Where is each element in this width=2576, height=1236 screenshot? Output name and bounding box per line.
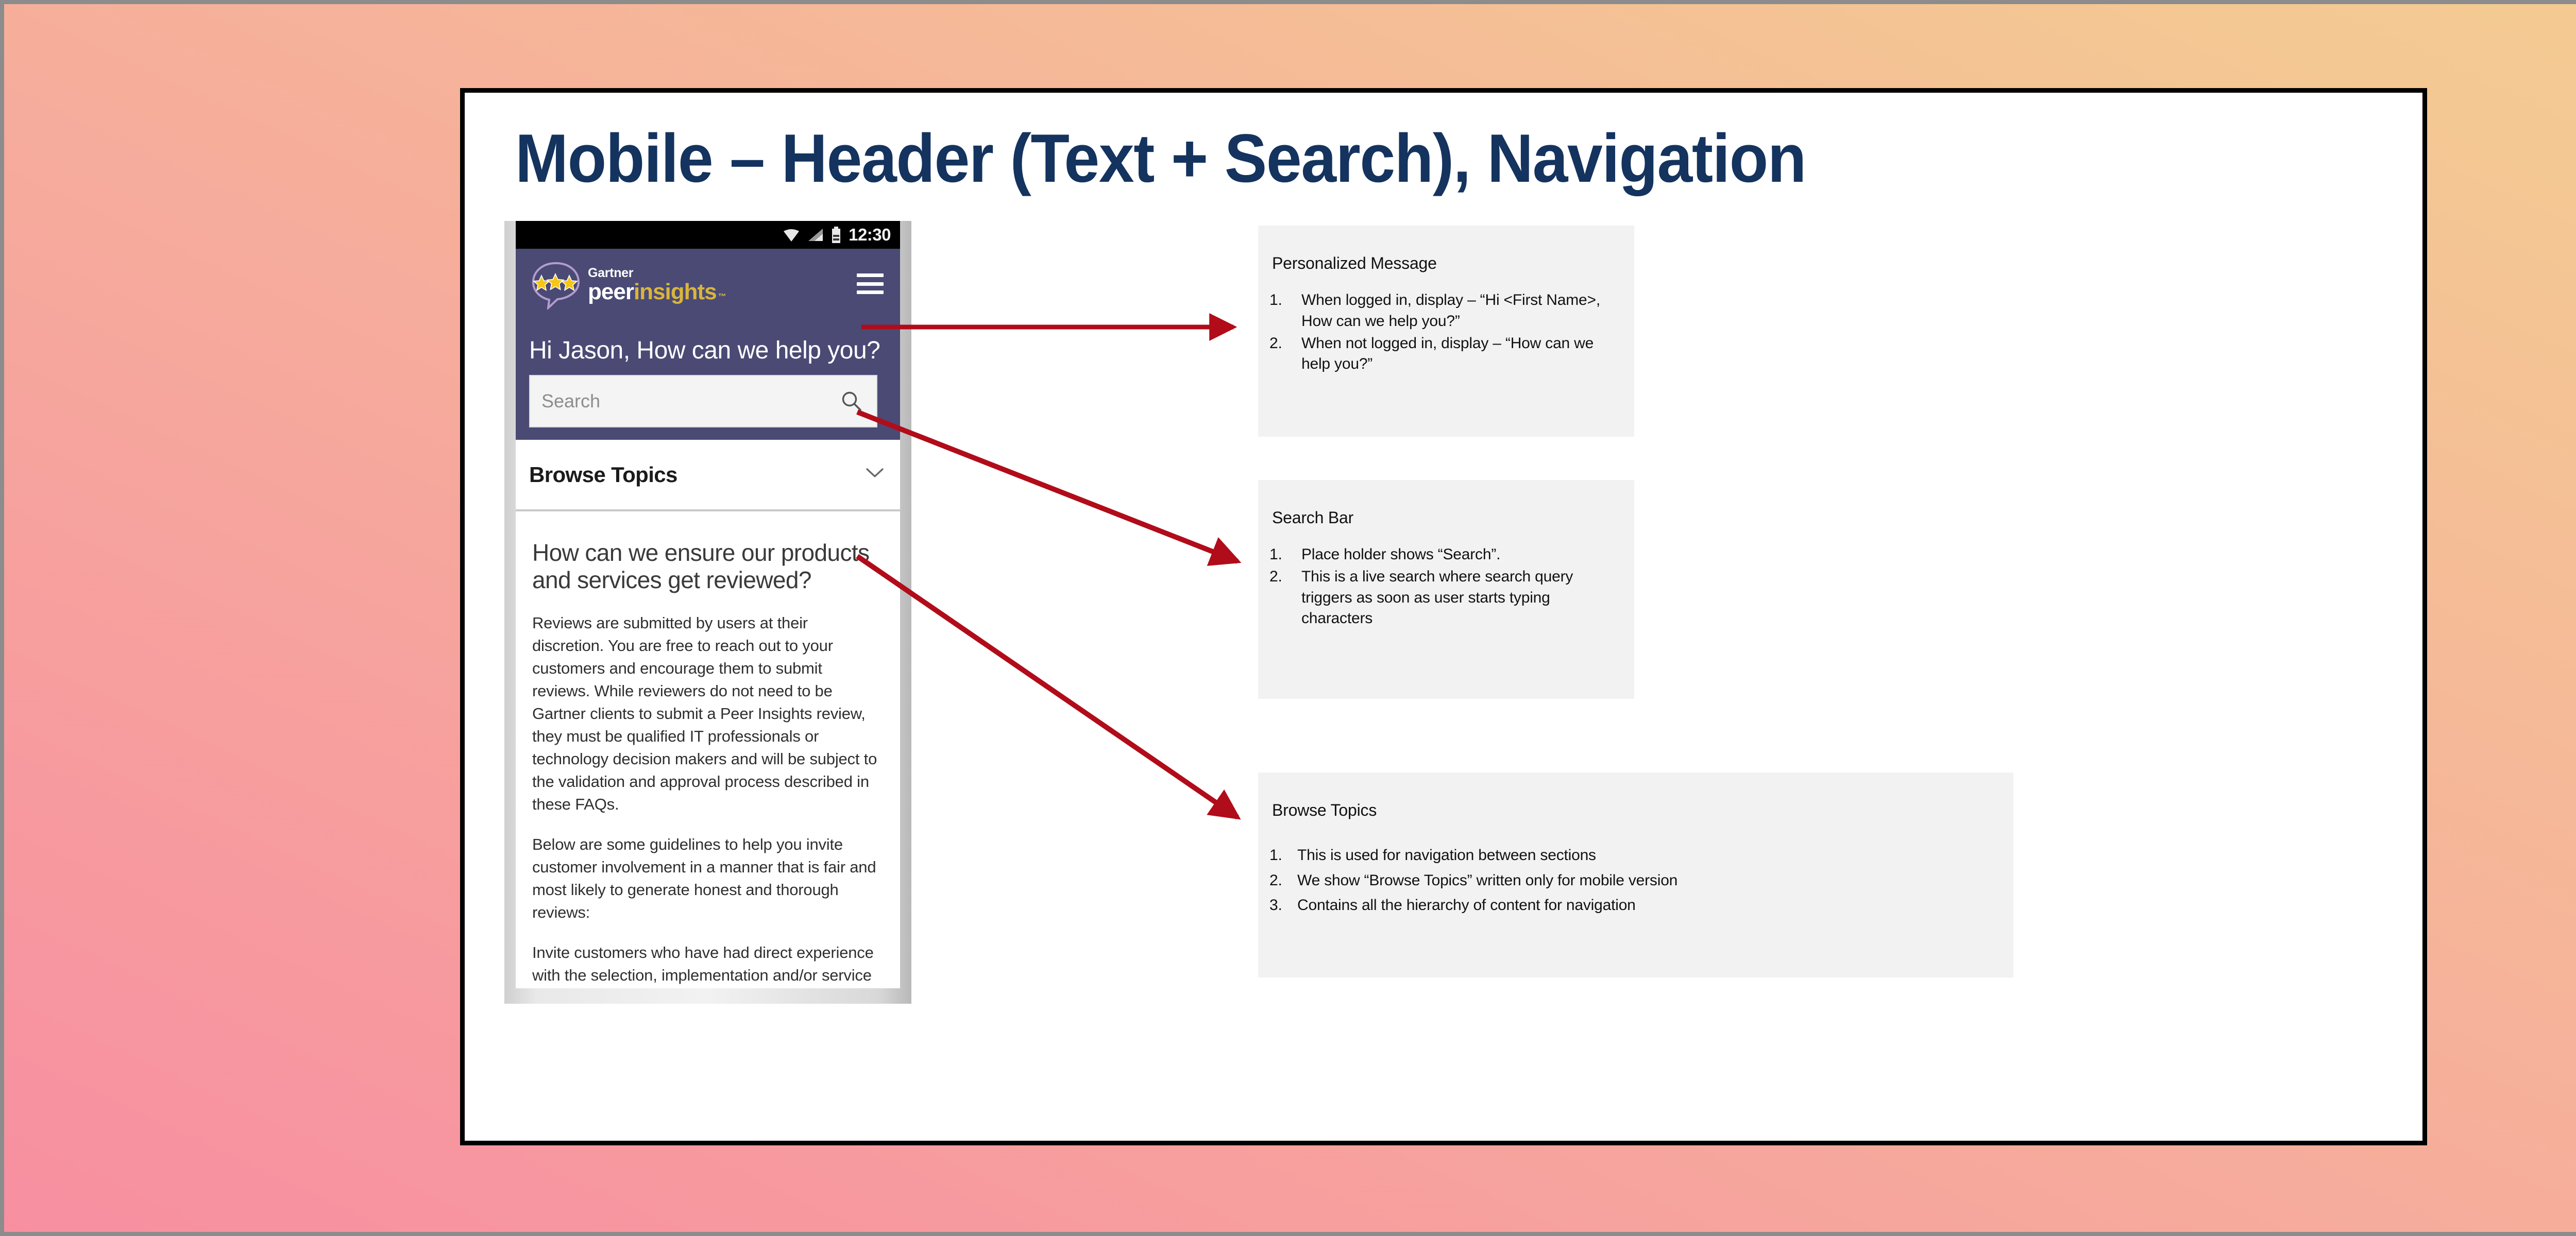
browse-topics-label: Browse Topics: [529, 462, 677, 487]
list-text: When not logged in, display – “How can w…: [1301, 333, 1624, 375]
hamburger-menu-icon[interactable]: [857, 273, 884, 294]
list-number: 2.: [1269, 870, 1297, 892]
annotation-list: 1. When logged in, display – “Hi <First …: [1269, 290, 1624, 376]
annotation-box-personalized-message: Personalized Message 1. When logged in, …: [1258, 226, 1634, 437]
logo-gartner-text: Gartner: [588, 267, 726, 280]
chevron-down-icon[interactable]: [865, 467, 885, 479]
battery-icon: [831, 227, 841, 243]
list-item: 2. When not logged in, display – “How ca…: [1269, 333, 1624, 375]
annotation-title: Search Bar: [1272, 508, 1353, 527]
faq-content: How can we ensure our products and servi…: [516, 511, 900, 988]
list-number: 1.: [1269, 544, 1301, 565]
list-item: 1. Place holder shows “Search”.: [1269, 544, 1624, 565]
logo-peer-text: peer: [588, 281, 634, 303]
list-number: 3.: [1269, 895, 1297, 917]
search-icon[interactable]: [840, 390, 863, 413]
annotation-list: 1. Place holder shows “Search”. 2. This …: [1269, 544, 1624, 630]
annotation-title: Personalized Message: [1272, 254, 1437, 273]
annotation-list: 1. This is used for navigation between s…: [1269, 845, 2003, 920]
three-stars-speech-bubble-icon: [529, 260, 583, 310]
phone-mockup: 12:30 Gartner: [504, 221, 911, 1004]
list-item: 2. This is a live search where search qu…: [1269, 566, 1624, 629]
list-text: This is used for navigation between sect…: [1297, 845, 2003, 867]
list-number: 2.: [1269, 333, 1301, 375]
arrow-search-to-search-bar: [857, 412, 1238, 561]
greeting-text: Hi Jason, How can we help you?: [529, 336, 880, 365]
logo-insights-text: insights: [634, 281, 717, 303]
list-text: When logged in, display – “Hi <First Nam…: [1301, 290, 1624, 332]
annotation-box-search-bar: Search Bar 1. Place holder shows “Search…: [1258, 480, 1634, 699]
wifi-icon: [783, 228, 800, 242]
list-item: 3. Contains all the hierarchy of content…: [1269, 895, 2003, 917]
list-text: This is a live search where search query…: [1301, 566, 1624, 629]
android-status-bar: 12:30: [516, 221, 900, 249]
signal-icon: [807, 228, 824, 242]
status-bar-time: 12:30: [849, 226, 891, 244]
list-item: 1. This is used for navigation between s…: [1269, 845, 2003, 867]
phone-screen: 12:30 Gartner: [516, 221, 900, 988]
list-text: Contains all the hierarchy of content fo…: [1297, 895, 2003, 917]
faq-paragraph: Invite customers who have had direct exp…: [532, 941, 884, 988]
list-number: 2.: [1269, 566, 1301, 629]
page-title: Mobile – Header (Text + Search), Navigat…: [515, 119, 1806, 198]
browse-topics-row[interactable]: Browse Topics: [516, 440, 900, 511]
faq-heading: How can we ensure our products and servi…: [532, 539, 884, 594]
list-text: We show “Browse Topics” written only for…: [1297, 870, 2003, 892]
faq-paragraph: Reviews are submitted by users at their …: [532, 612, 884, 816]
search-placeholder: Search: [541, 390, 600, 412]
logo-trademark: ™: [718, 293, 726, 301]
list-item: 2. We show “Browse Topics” written only …: [1269, 870, 2003, 892]
brand-logo[interactable]: Gartner peerinsights™: [529, 260, 726, 310]
list-number: 1.: [1269, 290, 1301, 332]
search-input[interactable]: Search: [529, 375, 877, 427]
list-text: Place holder shows “Search”.: [1301, 544, 1624, 565]
arrow-browse-topics-to-note: [857, 556, 1238, 817]
list-number: 1.: [1269, 845, 1297, 867]
slide: Mobile – Header (Text + Search), Navigat…: [460, 88, 2427, 1145]
annotation-title: Browse Topics: [1272, 801, 1377, 820]
slide-backdrop: Mobile – Header (Text + Search), Navigat…: [4, 4, 2576, 1232]
faq-paragraph: Below are some guidelines to help you in…: [532, 833, 884, 924]
annotation-box-browse-topics: Browse Topics 1. This is used for naviga…: [1258, 772, 2013, 977]
list-item: 1. When logged in, display – “Hi <First …: [1269, 290, 1624, 332]
app-header: Gartner peerinsights™ Hi Jason, How can …: [516, 249, 900, 440]
